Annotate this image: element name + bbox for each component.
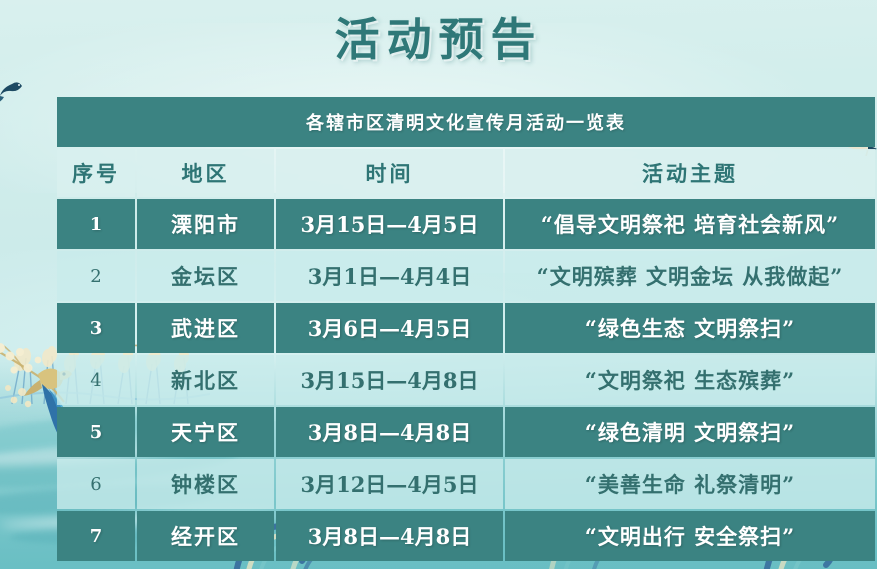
row-time: 3月8日—4月8日 [276, 407, 503, 457]
table-row: 5 天宁区 3月8日—4月8日 “绿色清明 文明祭扫” [57, 407, 875, 457]
schedule-table-container: 各辖市区清明文化宣传月活动一览表 序号 地区 时间 活动主题 1 溧阳市 3月1… [55, 95, 867, 549]
row-index: 4 [57, 355, 135, 405]
table-row: 1 溧阳市 3月15日—4月5日 “倡导文明祭祀 培育社会新风” [57, 199, 875, 249]
row-index: 7 [57, 511, 135, 561]
column-header-theme: 活动主题 [505, 149, 875, 197]
row-area: 金坛区 [137, 251, 274, 301]
row-area: 经开区 [137, 511, 274, 561]
row-time: 3月15日—4月5日 [276, 199, 503, 249]
row-theme: “美善生命 礼祭清明” [505, 459, 875, 509]
bird-icon [0, 78, 30, 104]
row-index: 6 [57, 459, 135, 509]
row-theme: “倡导文明祭祀 培育社会新风” [505, 199, 875, 249]
row-area: 溧阳市 [137, 199, 274, 249]
row-index: 2 [57, 251, 135, 301]
table-row: 7 经开区 3月8日—4月8日 “文明出行 安全祭扫” [57, 511, 875, 561]
row-index: 3 [57, 303, 135, 353]
column-header-area: 地区 [137, 149, 274, 197]
table-row: 6 钟楼区 3月12日—4月5日 “美善生命 礼祭清明” [57, 459, 875, 509]
row-area: 钟楼区 [137, 459, 274, 509]
row-theme: “文明出行 安全祭扫” [505, 511, 875, 561]
row-area: 天宁区 [137, 407, 274, 457]
table-row: 2 金坛区 3月1日—4月4日 “文明殡葬 文明金坛 从我做起” [57, 251, 875, 301]
table-row: 4 新北区 3月15日—4月8日 “文明祭祀 生态殡葬” [57, 355, 875, 405]
row-time: 3月8日—4月8日 [276, 511, 503, 561]
row-index: 1 [57, 199, 135, 249]
row-time: 3月6日—4月5日 [276, 303, 503, 353]
row-area: 武进区 [137, 303, 274, 353]
page-title: 活动预告 [0, 8, 877, 72]
table-banner-title: 各辖市区清明文化宣传月活动一览表 [57, 97, 875, 147]
column-header-time: 时间 [276, 149, 503, 197]
row-theme: “绿色清明 文明祭扫” [505, 407, 875, 457]
column-header-index: 序号 [57, 149, 135, 197]
table-row: 3 武进区 3月6日—4月5日 “绿色生态 文明祭扫” [57, 303, 875, 353]
table-header-row: 序号 地区 时间 活动主题 [57, 149, 875, 197]
table-banner-row: 各辖市区清明文化宣传月活动一览表 [57, 97, 875, 147]
row-area: 新北区 [137, 355, 274, 405]
row-time: 3月15日—4月8日 [276, 355, 503, 405]
row-theme: “文明祭祀 生态殡葬” [505, 355, 875, 405]
row-index: 5 [57, 407, 135, 457]
row-theme: “绿色生态 文明祭扫” [505, 303, 875, 353]
row-time: 3月12日—4月5日 [276, 459, 503, 509]
row-time: 3月1日—4月4日 [276, 251, 503, 301]
row-theme: “文明殡葬 文明金坛 从我做起” [505, 251, 875, 301]
poster-canvas: 各辖市区清明文化宣传月活动一览表 序号 地区 时间 活动主题 1 溧阳市 3月1… [0, 0, 877, 569]
schedule-table: 各辖市区清明文化宣传月活动一览表 序号 地区 时间 活动主题 1 溧阳市 3月1… [55, 95, 877, 563]
